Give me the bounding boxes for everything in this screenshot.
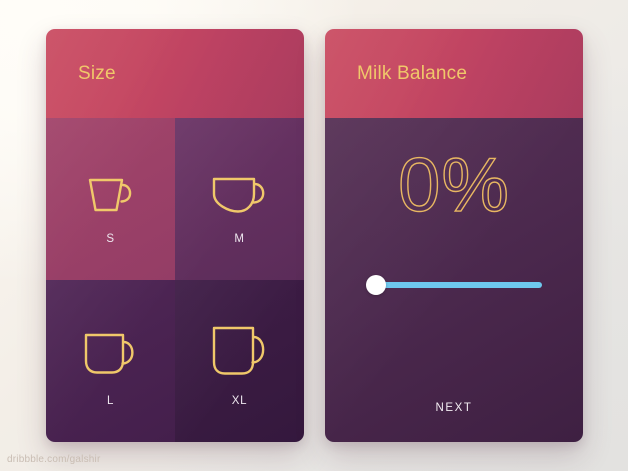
milk-percent-value: 0% [325, 148, 583, 224]
next-button[interactable]: NEXT [325, 402, 583, 414]
size-card-title: Size [78, 63, 116, 85]
size-option-xl[interactable]: XL [175, 280, 304, 442]
size-option-l-label: L [107, 395, 114, 407]
milk-balance-card: Milk Balance 0% NEXT [325, 29, 583, 442]
milk-card-title: Milk Balance [357, 63, 467, 85]
slider-track[interactable] [376, 282, 542, 288]
size-option-m-label: M [234, 233, 244, 245]
milk-card-body: 0% NEXT [325, 118, 583, 442]
size-option-s[interactable]: S [46, 118, 175, 280]
espresso-cup-icon [81, 154, 141, 220]
watermark: dribbble.com/galshir [7, 454, 101, 465]
milk-balance-slider[interactable] [366, 273, 542, 297]
size-options-grid: S M L [46, 118, 304, 442]
mug-cup-icon [78, 316, 144, 382]
slider-knob[interactable] [366, 275, 386, 295]
size-card: Size S [46, 29, 304, 442]
size-option-xl-label: XL [232, 395, 247, 407]
size-option-m[interactable]: M [175, 118, 304, 280]
milk-card-header: Milk Balance [325, 29, 583, 118]
size-option-l[interactable]: L [46, 280, 175, 442]
size-card-header: Size [46, 29, 304, 118]
cappuccino-cup-icon [207, 154, 273, 220]
large-mug-cup-icon [206, 316, 274, 382]
size-option-s-label: S [106, 233, 114, 245]
app-background: Size S [0, 0, 628, 471]
